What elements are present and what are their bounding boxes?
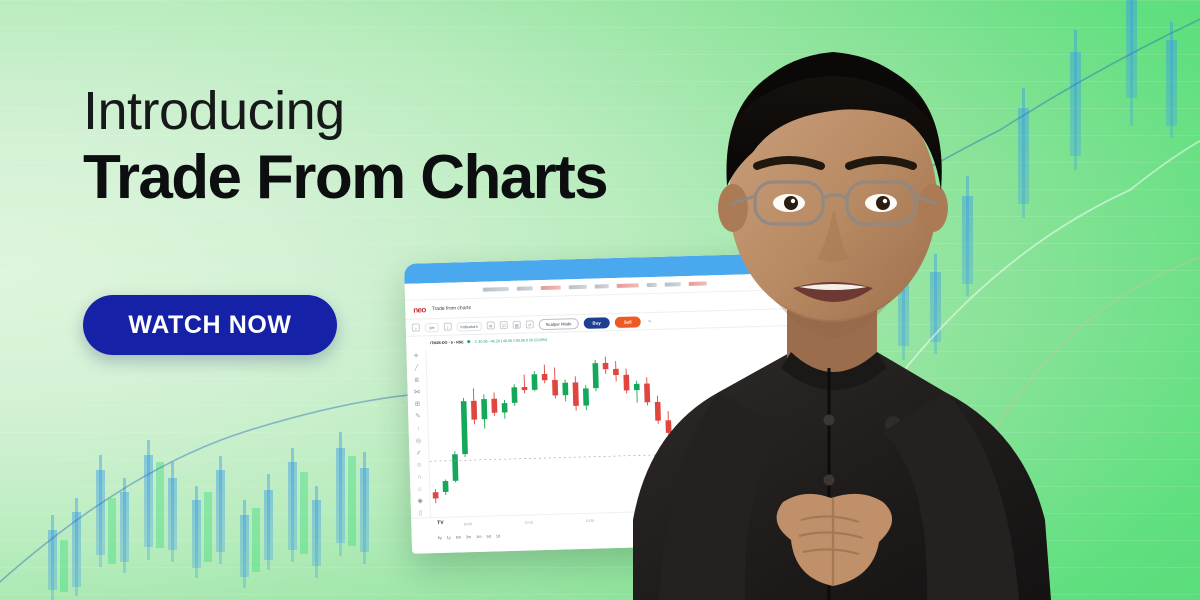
app-page-title: Trade from charts	[432, 305, 471, 312]
timeframe-1y[interactable]: 1y	[447, 536, 451, 540]
compare-icon[interactable]: ⧉	[487, 321, 495, 329]
watch-now-button[interactable]: WATCH NOW	[83, 295, 337, 355]
text-icon[interactable]: ⊞	[413, 401, 422, 409]
symbol-label[interactable]: ITM25-DO - 5 - NSE	[430, 340, 464, 345]
measure-icon[interactable]: ⁄⁄	[414, 449, 423, 457]
candle-type-icon[interactable]: ⌶	[443, 323, 451, 331]
interval-selector[interactable]: 1m	[425, 322, 439, 331]
lock-icon[interactable]: ⌂	[415, 485, 424, 493]
circle-icon[interactable]: ◎	[414, 437, 423, 445]
symbol-search-icon[interactable]: ⌕	[412, 323, 420, 331]
emoji-icon[interactable]: ☺	[415, 461, 424, 469]
buy-button[interactable]: Buy	[583, 317, 610, 329]
crosshair-icon[interactable]: ✛	[412, 352, 421, 360]
presenter-photo	[615, 0, 1075, 600]
pattern-icon[interactable]: ⋈	[413, 389, 422, 397]
time-axis-label: 10:30	[586, 519, 595, 523]
watch-now-label: WATCH NOW	[128, 311, 291, 340]
alert-icon[interactable]: ☑	[500, 321, 508, 329]
timeframe-5d[interactable]: 5d	[487, 535, 491, 539]
timeframe-6m[interactable]: 6m	[456, 535, 461, 539]
ohlc-values: C 40.06 −40.20 | 40.06 C40.06 0.50 (0.00…	[475, 337, 548, 343]
timeframe-1m[interactable]: 1m	[476, 535, 481, 539]
scalper-mode-toggle[interactable]: Scalper Mode	[539, 318, 579, 330]
tradingview-badge[interactable]: TV	[437, 520, 444, 526]
neo-logo[interactable]: neo	[413, 305, 426, 314]
brush-icon[interactable]: ✎	[413, 413, 422, 421]
time-axis-label: 10:15	[525, 520, 534, 524]
poster-stage: Introducing Trade From Charts WATCH NOW …	[0, 0, 1200, 600]
snapshot-icon[interactable]: ▤	[513, 321, 521, 329]
magnet-icon[interactable]: ∩	[415, 473, 424, 481]
eye-icon[interactable]: ◉	[416, 497, 425, 505]
timeframe-1d[interactable]: 1d	[496, 534, 500, 538]
arrow-icon[interactable]: ↑	[414, 425, 423, 433]
timeframe-3m[interactable]: 3m	[466, 535, 471, 539]
indicators-button[interactable]: Indicators	[456, 321, 482, 331]
timeframe-5y[interactable]: 5y	[438, 536, 442, 540]
trendline-icon[interactable]: ╱	[412, 365, 421, 373]
undo-icon[interactable]: ↺	[526, 320, 534, 328]
fib-icon[interactable]: ≣	[412, 377, 421, 385]
time-axis-label: 10:00	[464, 522, 473, 526]
market-status-icon	[468, 340, 471, 343]
